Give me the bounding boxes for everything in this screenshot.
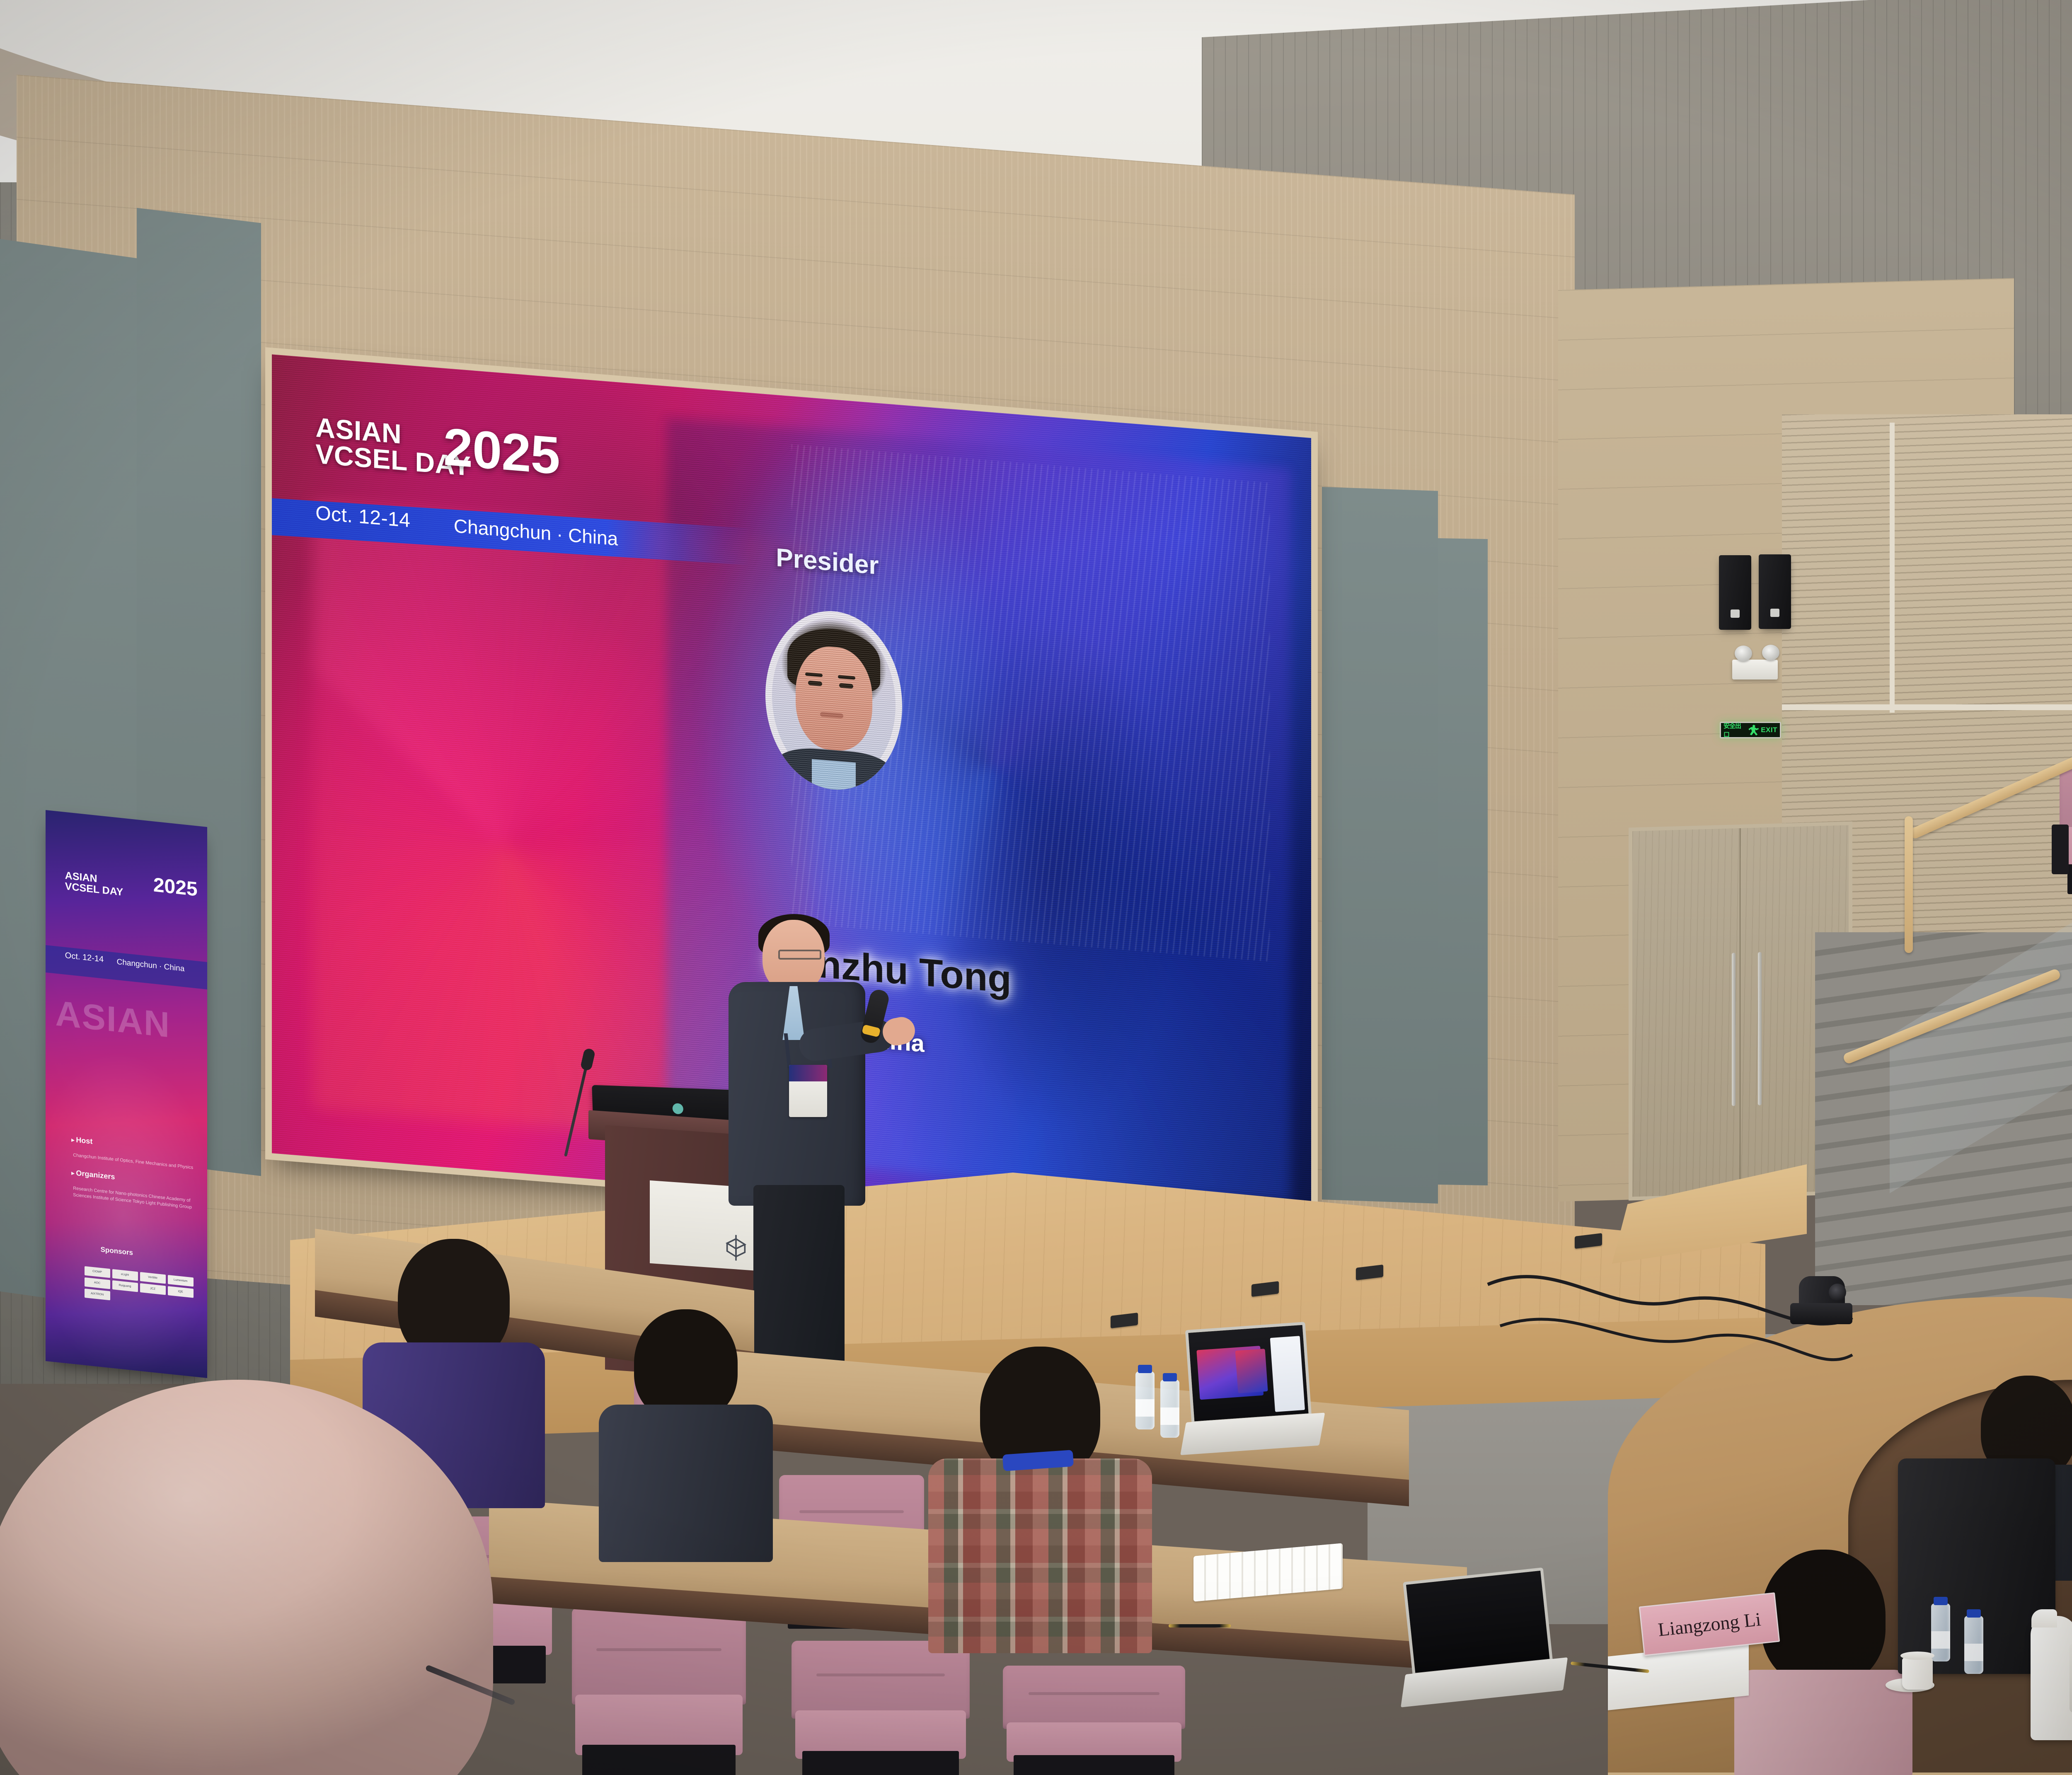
sponsor-logo: Lumentum xyxy=(168,1275,194,1287)
seat-base xyxy=(582,1745,736,1775)
seat-arm-left xyxy=(2052,825,2069,874)
wall-speaker-right xyxy=(1759,554,1791,629)
laptop-side-panel xyxy=(1270,1336,1305,1412)
exit-sign-en-label: EXIT xyxy=(1761,726,1777,734)
screen-speaker-portrait xyxy=(765,606,902,795)
bottle-cap xyxy=(1163,1373,1177,1381)
exit-sign-cn-label: 安全出口 xyxy=(1723,721,1746,739)
seat-back xyxy=(572,1608,746,1705)
rollup-brand-line1: ASIAN xyxy=(65,870,97,885)
seat-back xyxy=(1003,1666,1185,1729)
conference-hall-photo: 安全出口 EXIT ASIAN VCSEL DAY 2025 Oct. 12-1… xyxy=(0,0,2072,1775)
rollup-date: Oct. 12-14 xyxy=(65,951,104,965)
running-man-icon xyxy=(1748,725,1759,735)
rollup-section-organizers-body: Research Centre for Nano-photonics Chine… xyxy=(73,1185,199,1212)
rollup-location: Changchun · China xyxy=(117,958,185,974)
audience-laptop-open-lower[interactable] xyxy=(1403,1567,1556,1706)
wall-seam-horizontal xyxy=(1782,704,2072,710)
wall-speaker-left xyxy=(1719,555,1751,630)
sponsor-logo: Vertilite xyxy=(140,1272,166,1284)
auditorium-seat[interactable] xyxy=(2060,762,2072,887)
door-handle-left[interactable] xyxy=(1732,953,1736,1106)
thermos-handle xyxy=(2070,1643,2072,1713)
sponsor-logo: IQE xyxy=(168,1286,194,1298)
front-row-seat[interactable] xyxy=(792,1641,970,1775)
panel-member-foreground xyxy=(1732,1550,1915,1775)
rollup-banner: ASIAN VCSEL DAY 2025 Oct. 12-14 Changchu… xyxy=(46,810,207,1378)
presenter-glasses xyxy=(778,950,821,960)
sponsor-logo: AOC xyxy=(85,1277,110,1289)
water-thermos[interactable] xyxy=(2031,1616,2072,1740)
emergency-lamp-left xyxy=(1735,646,1752,661)
screen-year: 2025 xyxy=(443,416,560,486)
ptz-conference-camera[interactable] xyxy=(1790,1276,1852,1324)
bottle-label xyxy=(1931,1631,1950,1649)
bottle-label xyxy=(1964,1644,1983,1661)
audience-member-plaid-shirt xyxy=(924,1347,1156,1645)
rollup-sponsor-label: Sponsors xyxy=(101,1245,133,1257)
door-handle-right[interactable] xyxy=(1758,952,1762,1105)
rollup-brand-line2: VCSEL DAY xyxy=(65,880,123,898)
nameplate-label: Liangzong Li xyxy=(1657,1608,1762,1641)
portrait-eye-right xyxy=(839,683,853,689)
rollup-sponsor-logo-grid: CIOMP eLight Vertilite Lumentum AOC Ruig… xyxy=(85,1266,198,1309)
bottle-label xyxy=(1160,1407,1179,1425)
portrait-hair xyxy=(787,625,880,693)
front-row-seat[interactable] xyxy=(572,1608,746,1775)
bottle-cap xyxy=(1967,1609,1981,1618)
portrait-brow-right xyxy=(838,675,855,680)
bottle-cap xyxy=(1138,1365,1152,1373)
emergency-light-unit xyxy=(1732,660,1778,680)
rollup-date-bar xyxy=(46,945,207,989)
presenter-name-badge xyxy=(789,1065,827,1117)
tea-cup-lid xyxy=(1900,1652,1934,1660)
seat-base xyxy=(1014,1755,1174,1775)
rollup-watermark: ASIAN xyxy=(55,993,170,1046)
speaker-led-right xyxy=(1770,609,1779,617)
panel-water-bottle[interactable] xyxy=(1931,1603,1950,1661)
portrait-brow-left xyxy=(805,672,823,677)
thermos-spout xyxy=(2031,1609,2057,1627)
water-bottle-desk[interactable] xyxy=(1160,1380,1179,1438)
stair-post xyxy=(1905,816,1913,953)
rollup-section-organizers-label: Organizers xyxy=(71,1168,115,1181)
desk-pointer-device[interactable] xyxy=(1169,1624,1231,1627)
audience-torso xyxy=(599,1405,773,1562)
rollup-section-host-body: Changchun Institute of Optics, Fine Mech… xyxy=(73,1152,199,1172)
rollup-year: 2025 xyxy=(153,874,198,901)
wall-panel-teal-strip xyxy=(1438,538,1488,1185)
portrait-mouth xyxy=(820,712,843,719)
water-bottle-desk[interactable] xyxy=(1135,1371,1155,1429)
speaker-led-left xyxy=(1731,609,1740,618)
audience-laptop-open[interactable] xyxy=(1185,1322,1314,1454)
audience-member-dark-hair xyxy=(597,1309,775,1541)
seat-base xyxy=(802,1751,959,1775)
portrait-eye-left xyxy=(808,680,822,686)
sponsor-logo: AIXTRON xyxy=(85,1288,110,1300)
tea-cup-lidded[interactable] xyxy=(1902,1657,1933,1690)
badge-header-band xyxy=(789,1065,827,1081)
sponsor-logo: CIOMP xyxy=(85,1266,110,1278)
panel-water-bottle[interactable] xyxy=(1964,1616,1983,1674)
panel-head xyxy=(1761,1550,1886,1686)
wall-seam-vertical-a xyxy=(1890,423,1895,713)
sponsor-logo: JCZ xyxy=(140,1283,166,1295)
camera-base xyxy=(1790,1303,1852,1324)
door-leaf-left[interactable] xyxy=(1632,828,1740,1197)
wall-panel-teal-right-of-screen xyxy=(1322,487,1438,1204)
laptop-screen xyxy=(1185,1322,1312,1424)
exit-sign: 安全出口 EXIT xyxy=(1720,722,1781,738)
laptop-screen xyxy=(1403,1567,1553,1676)
rollup-brand-title: ASIAN VCSEL DAY xyxy=(65,870,123,898)
emergency-lamp-right xyxy=(1762,645,1779,660)
rollup-section-host-label: Host xyxy=(71,1135,92,1146)
bottle-label xyxy=(1135,1399,1155,1417)
laptop-logo xyxy=(673,1103,684,1115)
front-row-seat[interactable] xyxy=(1003,1666,1185,1775)
sponsor-logo: eLight xyxy=(112,1269,138,1281)
audience-torso xyxy=(928,1458,1152,1653)
bottle-cap xyxy=(1934,1597,1948,1605)
sponsor-logo: Ruiguang xyxy=(112,1280,138,1292)
portrait-face xyxy=(796,644,872,753)
laptop-video-tile-b xyxy=(1235,1349,1268,1393)
